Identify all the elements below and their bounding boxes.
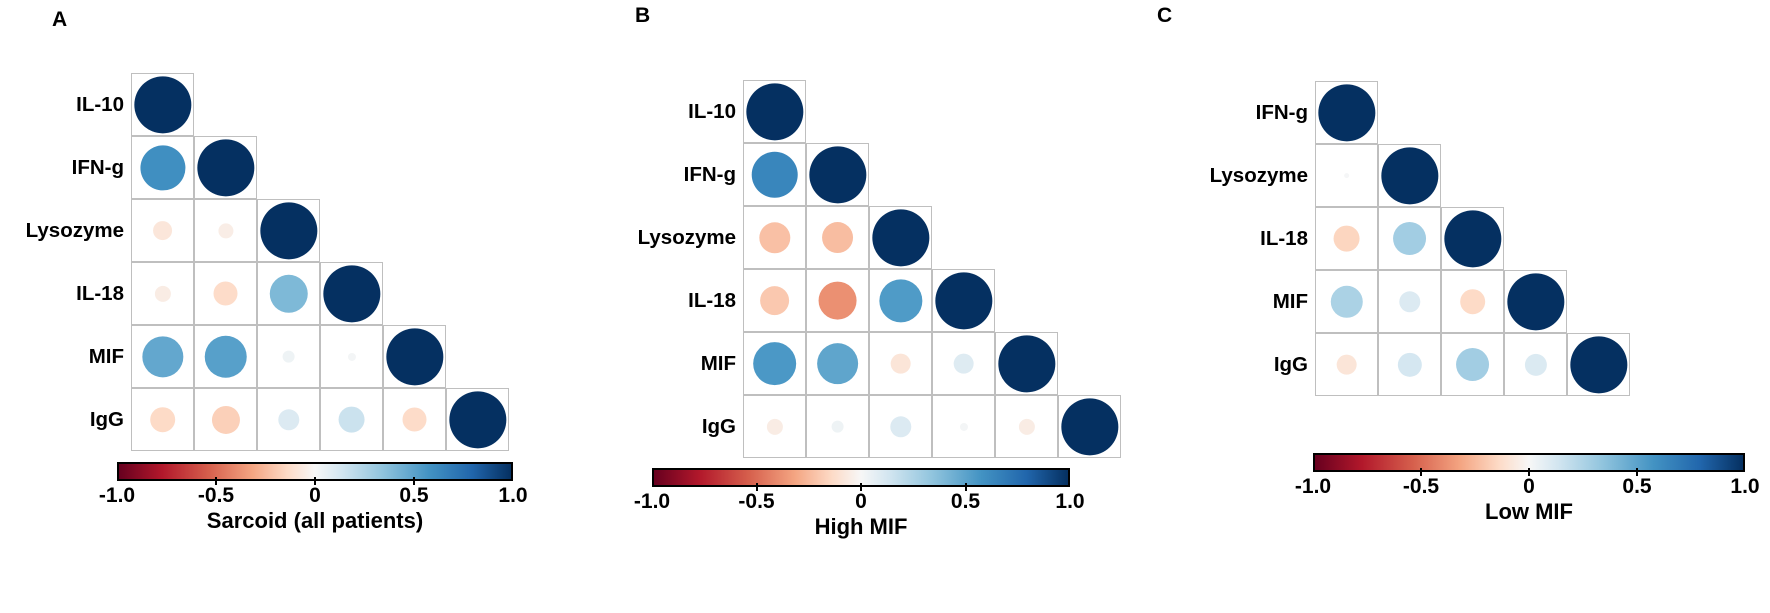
colorbar-tick-label: 0.5 <box>399 484 428 508</box>
panel-letter: C <box>1157 4 1172 28</box>
colorbar-tick-label: -0.5 <box>738 490 774 514</box>
colorbar-tick-label: -1.0 <box>1295 475 1331 499</box>
panel-letter: A <box>52 8 67 32</box>
colorbar-tick-label: 1.0 <box>1055 490 1084 514</box>
colorbar-tick-label: 0.5 <box>951 490 980 514</box>
colorbar-tick-label: 0 <box>1523 475 1535 499</box>
row-label-igg: IgG <box>0 354 1308 375</box>
row-label-lysozyme: Lysozyme <box>0 165 1308 186</box>
colorbar-tick-label: -0.5 <box>1403 475 1439 499</box>
panel-caption: High MIF <box>815 514 908 540</box>
colorbar-tick-label: -1.0 <box>99 484 135 508</box>
colorbar-tick-label: -0.5 <box>198 484 234 508</box>
row-label-igg: IgG <box>0 416 736 437</box>
panel-letter: B <box>635 4 650 28</box>
correlation-figure: AIL-10IFN-gLysozymeIL-18MIFIgG-1.0-0.500… <box>0 0 1770 613</box>
colorbar-tick-label: 0 <box>309 484 321 508</box>
panel-caption: Low MIF <box>1485 499 1573 525</box>
colorbar-tick-label: 1.0 <box>1730 475 1759 499</box>
colorbar-tick-label: 0 <box>855 490 867 514</box>
panel-caption: Sarcoid (all patients) <box>207 508 423 534</box>
correlation-bubble <box>1336 354 1357 375</box>
row-label-ifn-g: IFN-g <box>0 102 1308 123</box>
colorbar-tick-label: 0.5 <box>1622 475 1651 499</box>
correlation-bubble <box>1460 289 1486 315</box>
correlation-bubble <box>831 420 844 433</box>
colorbar-tick-label: 1.0 <box>498 484 527 508</box>
correlation-bubble <box>1333 225 1360 252</box>
colorbar-tick-label: -1.0 <box>634 490 670 514</box>
correlation-bubble <box>1393 222 1427 256</box>
correlation-bubble <box>1456 348 1490 382</box>
row-label-il-18: IL-18 <box>0 228 1308 249</box>
correlation-bubble <box>1344 173 1350 179</box>
row-label-mif: MIF <box>0 291 1308 312</box>
